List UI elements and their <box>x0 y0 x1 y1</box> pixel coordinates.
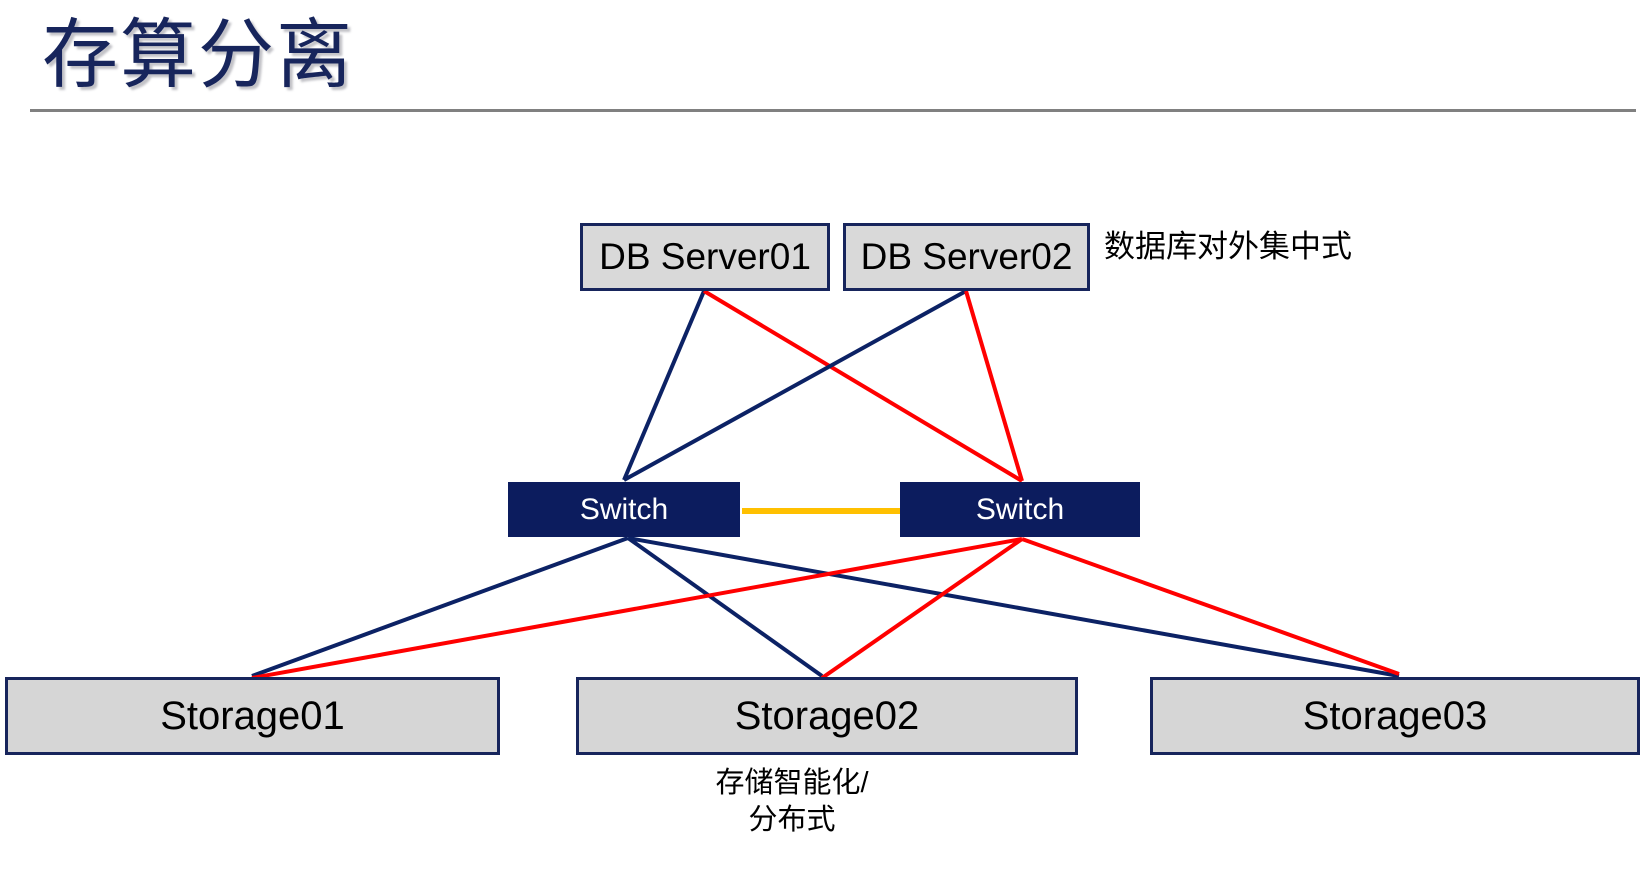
node-db-server-02[interactable]: DB Server02 <box>843 223 1090 291</box>
node-storage-03[interactable]: Storage03 <box>1150 677 1640 755</box>
link-switch-02-to-storage-03 <box>1022 539 1399 674</box>
link-switch-02-to-storage-01 <box>252 539 1022 678</box>
link-switch-01-to-storage-01 <box>252 538 628 676</box>
node-db-server-01[interactable]: DB Server01 <box>580 223 830 291</box>
link-switch-01-to-storage-03 <box>628 538 1399 676</box>
annotation-storage-tier: 存储智能化/ 分布式 <box>648 765 936 839</box>
node-label: Storage03 <box>1303 694 1488 739</box>
node-storage-01[interactable]: Storage01 <box>5 677 500 755</box>
link-switch-01-to-storage-02 <box>628 538 822 676</box>
node-label: Storage01 <box>160 694 345 739</box>
node-storage-02[interactable]: Storage02 <box>576 677 1078 755</box>
node-label: DB Server02 <box>861 236 1073 278</box>
link-db-server-01-to-switch-01 <box>624 291 704 480</box>
node-label: Storage02 <box>735 694 920 739</box>
slide-canvas: 存算分离 DB Server01 DB Server02 Switch Swit… <box>0 0 1648 886</box>
node-switch-02[interactable]: Switch <box>900 482 1140 537</box>
node-switch-01[interactable]: Switch <box>508 482 740 537</box>
annotation-db-tier: 数据库对外集中式 <box>1104 227 1352 267</box>
node-label: Switch <box>976 493 1064 527</box>
node-label: Switch <box>580 493 668 527</box>
node-label: DB Server01 <box>599 236 811 278</box>
link-switch-02-to-storage-02 <box>822 539 1022 678</box>
link-db-server-02-to-switch-01 <box>624 291 966 480</box>
connection-lines <box>252 291 1399 678</box>
